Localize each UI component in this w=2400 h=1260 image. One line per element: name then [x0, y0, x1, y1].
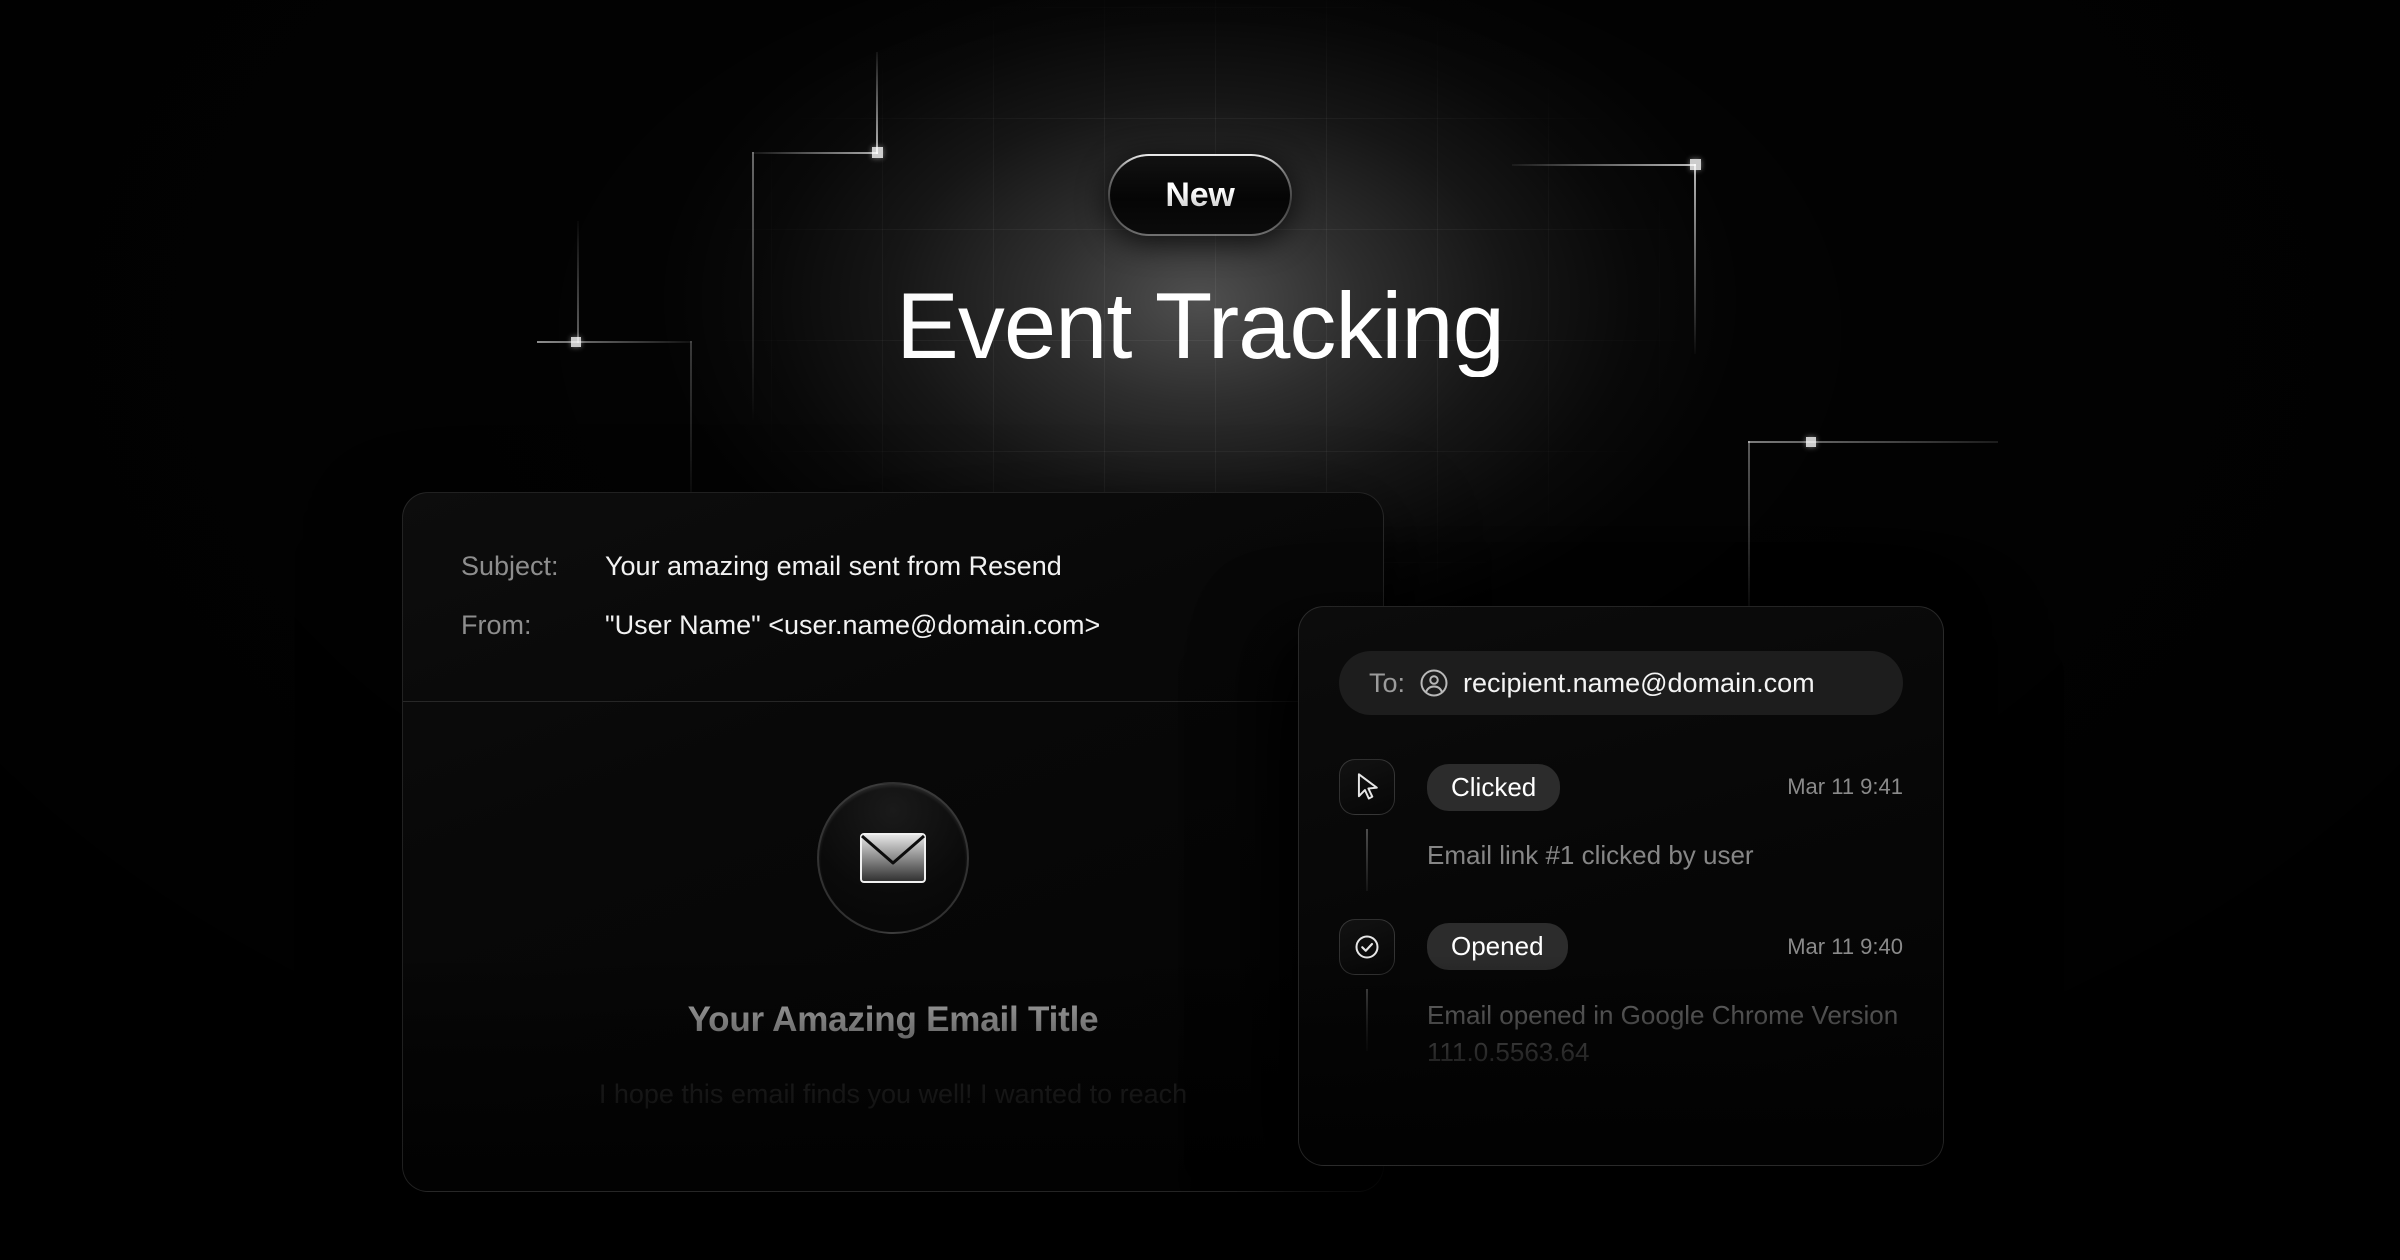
event-connector	[1366, 989, 1368, 1051]
envelope-icon	[817, 782, 969, 934]
email-subject-row: Subject: Your amazing email sent from Re…	[461, 551, 1325, 582]
hero-section: New Event Tracking Subject: Your amazing…	[0, 0, 2400, 1260]
event-list: Clicked Mar 11 9:41 Email link #1 clicke…	[1339, 759, 1903, 1072]
bracket-dot-icon	[1690, 159, 1701, 170]
recipient-label: To:	[1369, 668, 1405, 699]
email-body-paragraph: I hope this email finds you well! I want…	[463, 1074, 1323, 1116]
event-connector	[1366, 829, 1368, 891]
recipient-field[interactable]: To: recipient.name@domain.com	[1339, 651, 1903, 715]
event-description: Email link #1 clicked by user	[1427, 837, 1903, 875]
corner-bracket-icon	[1512, 66, 1752, 256]
bracket-dot-icon	[1806, 437, 1816, 447]
event-header: Clicked Mar 11 9:41	[1427, 759, 1903, 815]
recipient-email-value: recipient.name@domain.com	[1463, 668, 1815, 699]
list-item[interactable]: Opened Mar 11 9:40 Email opened in Googl…	[1339, 919, 1903, 1072]
email-subject-label: Subject:	[461, 551, 605, 582]
email-preview-card: Subject: Your amazing email sent from Re…	[402, 492, 1384, 1192]
email-from-value: "User Name" <user.name@domain.com>	[605, 610, 1100, 641]
email-body-title: Your Amazing Email Title	[688, 1000, 1099, 1040]
event-description: Email opened in Google Chrome Version 11…	[1427, 997, 1903, 1072]
corner-bracket-icon	[752, 52, 892, 212]
event-timestamp: Mar 11 9:41	[1787, 774, 1903, 800]
new-badge: New	[1108, 154, 1292, 236]
check-circle-icon	[1339, 919, 1395, 975]
new-badge-label: New	[1165, 176, 1234, 215]
cursor-arrow-icon	[1339, 759, 1395, 815]
event-timestamp: Mar 11 9:40	[1787, 934, 1903, 960]
email-subject-value: Your amazing email sent from Resend	[605, 551, 1062, 582]
status-badge: Clicked	[1427, 764, 1560, 811]
email-header: Subject: Your amazing email sent from Re…	[403, 493, 1383, 641]
page-title: Event Tracking	[0, 274, 2400, 377]
email-from-label: From:	[461, 610, 605, 641]
event-tracking-panel: To: recipient.name@domain.com	[1298, 606, 1944, 1166]
bracket-dot-icon	[872, 147, 883, 158]
email-from-row: From: "User Name" <user.name@domain.com>	[461, 610, 1325, 641]
list-item[interactable]: Clicked Mar 11 9:41 Email link #1 clicke…	[1339, 759, 1903, 875]
user-circle-icon	[1419, 668, 1449, 698]
status-badge: Opened	[1427, 923, 1568, 970]
event-header: Opened Mar 11 9:40	[1427, 919, 1903, 975]
email-body: Your Amazing Email Title I hope this ema…	[403, 702, 1383, 1116]
